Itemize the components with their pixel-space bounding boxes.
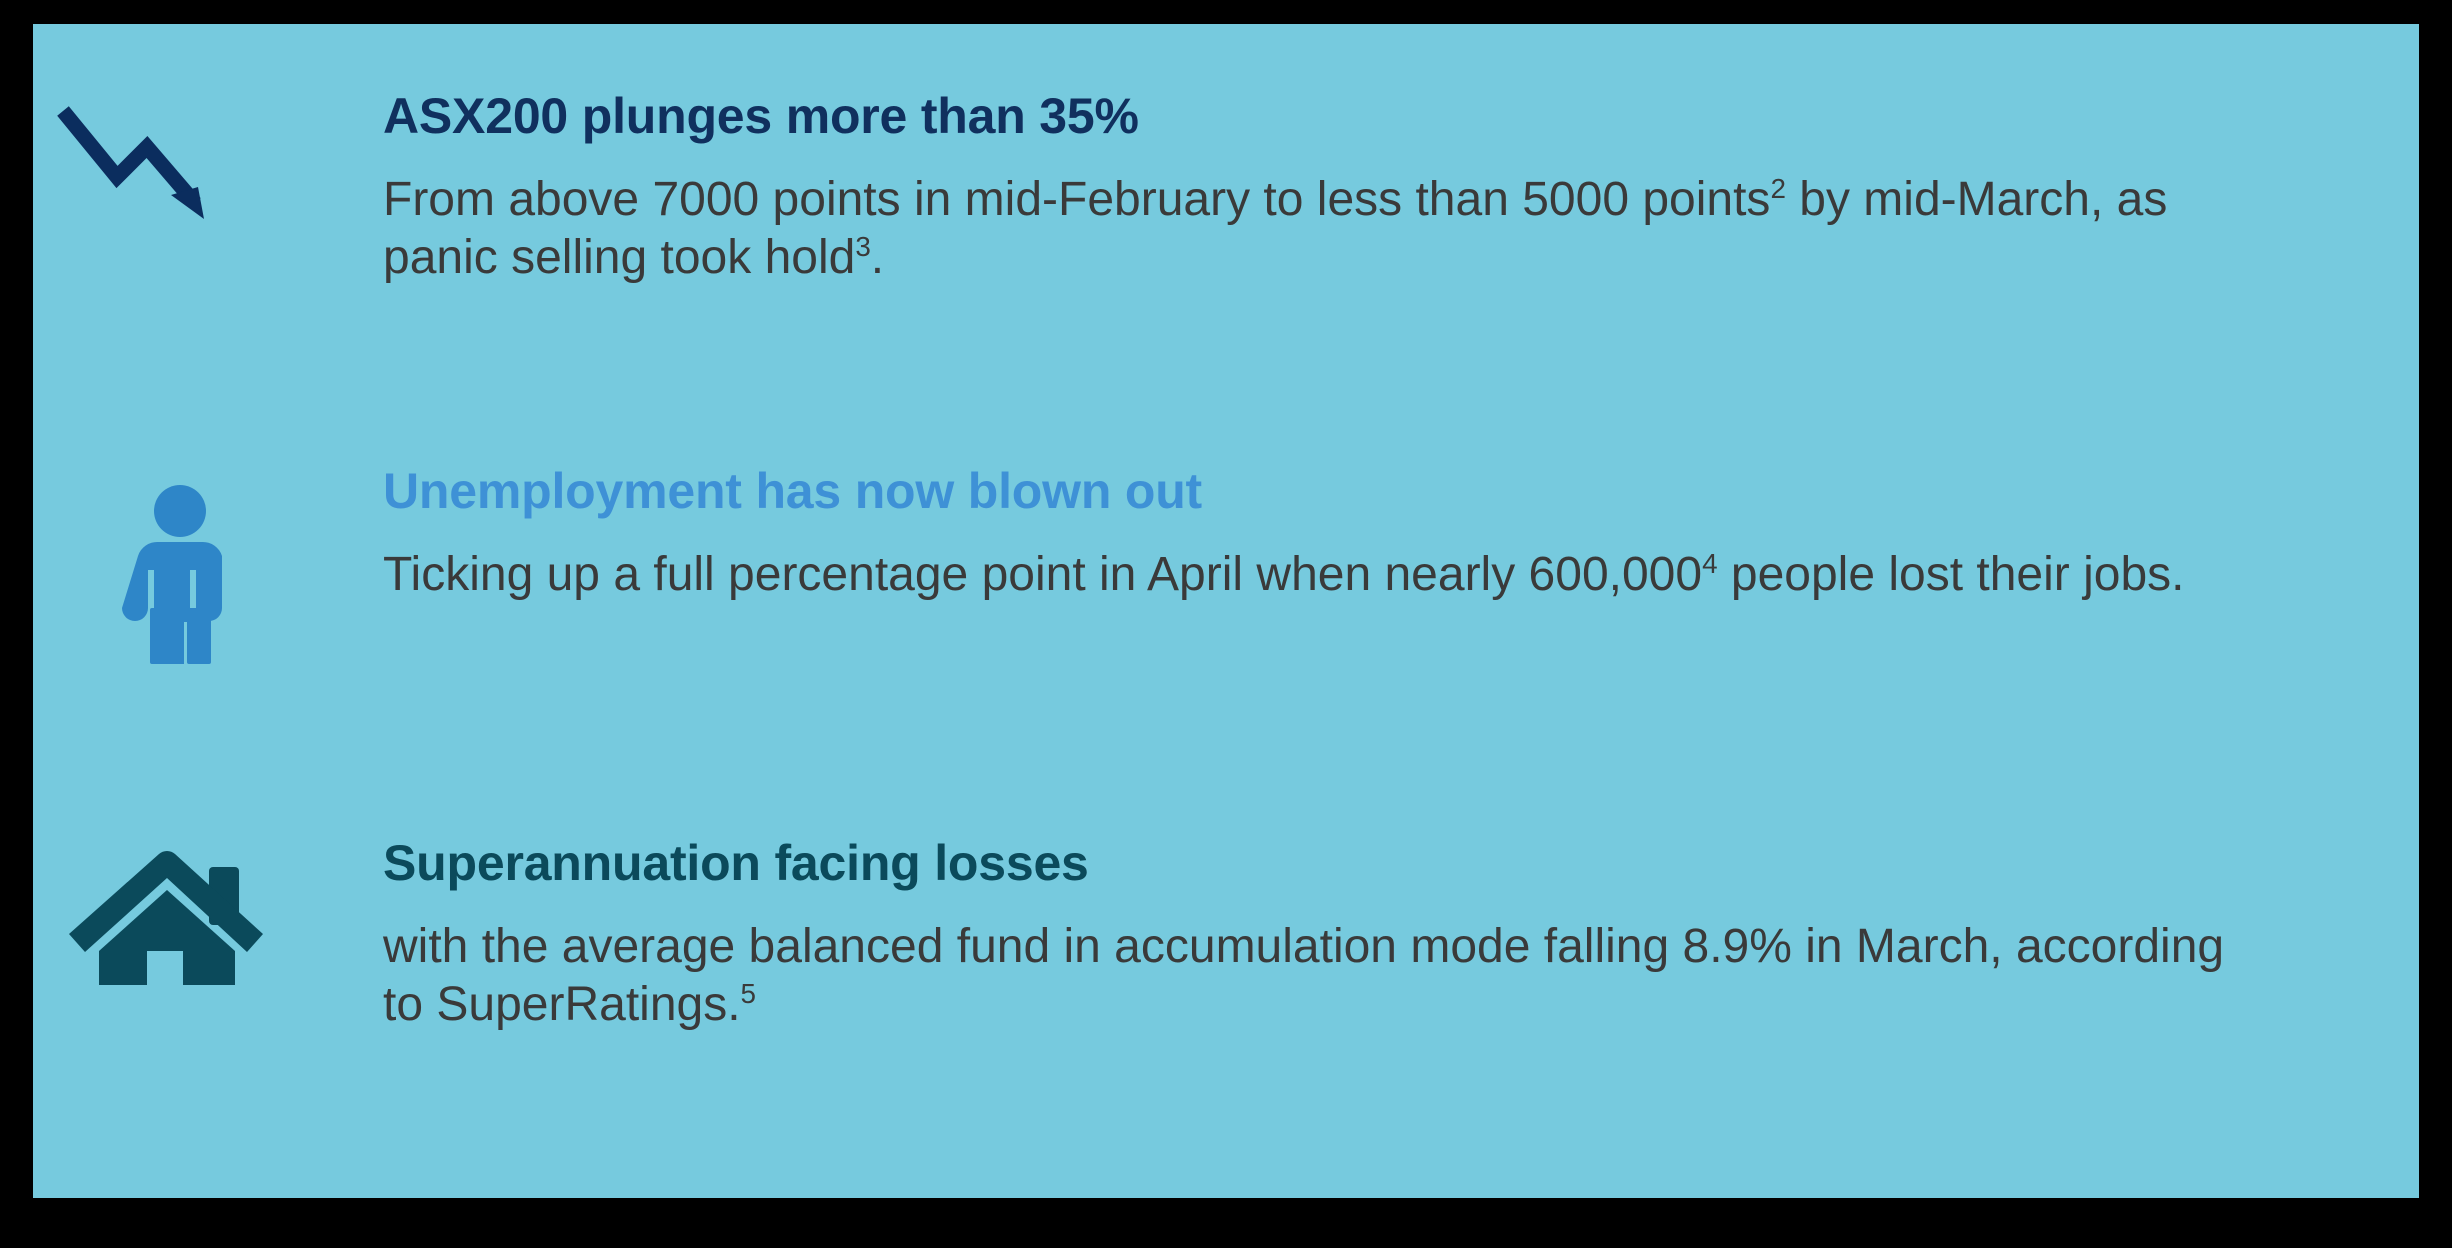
heading-superannuation: Superannuation facing losses xyxy=(383,836,2359,890)
body-superannuation: with the average balanced fund in accumu… xyxy=(383,918,2253,1033)
body-text-part: Ticking up a full percentage point in Ap… xyxy=(383,548,1702,601)
info-row-asx200: ASX200 plunges more than 35% From above … xyxy=(33,89,2419,286)
footnote-marker: 2 xyxy=(1770,173,1785,204)
heading-unemployment: Unemployment has now blown out xyxy=(383,464,2359,518)
body-text-part: From above 7000 points in mid-February t… xyxy=(383,173,1770,226)
footnote-marker: 4 xyxy=(1702,548,1717,579)
person-icon xyxy=(118,484,243,664)
info-row-superannuation: Superannuation facing losses with the av… xyxy=(33,836,2419,1033)
footnote-marker: 3 xyxy=(855,231,870,262)
body-text-part: people lost their jobs. xyxy=(1718,548,2185,601)
text-cell-unemployment: Unemployment has now blown out Ticking u… xyxy=(383,464,2419,604)
icon-cell-asx200 xyxy=(33,89,383,229)
footnote-marker: 5 xyxy=(741,978,756,1009)
heading-lead-word: Superannuation xyxy=(383,835,761,891)
icon-cell-unemployment xyxy=(33,464,383,664)
body-text-part: . xyxy=(871,231,884,284)
text-cell-superannuation: Superannuation facing losses with the av… xyxy=(383,836,2419,1033)
body-asx200: From above 7000 points in mid-February t… xyxy=(383,171,2253,286)
body-unemployment: Ticking up a full percentage point in Ap… xyxy=(383,546,2253,604)
slide-panel: ASX200 plunges more than 35% From above … xyxy=(33,24,2419,1198)
heading-asx200: ASX200 plunges more than 35% xyxy=(383,89,2359,143)
icon-cell-superannuation xyxy=(33,836,383,985)
downward-trend-arrow-icon xyxy=(55,99,230,229)
info-rows-container: ASX200 plunges more than 35% From above … xyxy=(33,24,2419,1198)
text-cell-asx200: ASX200 plunges more than 35% From above … xyxy=(383,89,2419,286)
info-row-unemployment: Unemployment has now blown out Ticking u… xyxy=(33,464,2419,664)
heading-rest: facing losses xyxy=(761,835,1089,891)
body-text-part: with the average balanced fund in accumu… xyxy=(383,920,2224,1031)
house-icon xyxy=(63,850,268,985)
